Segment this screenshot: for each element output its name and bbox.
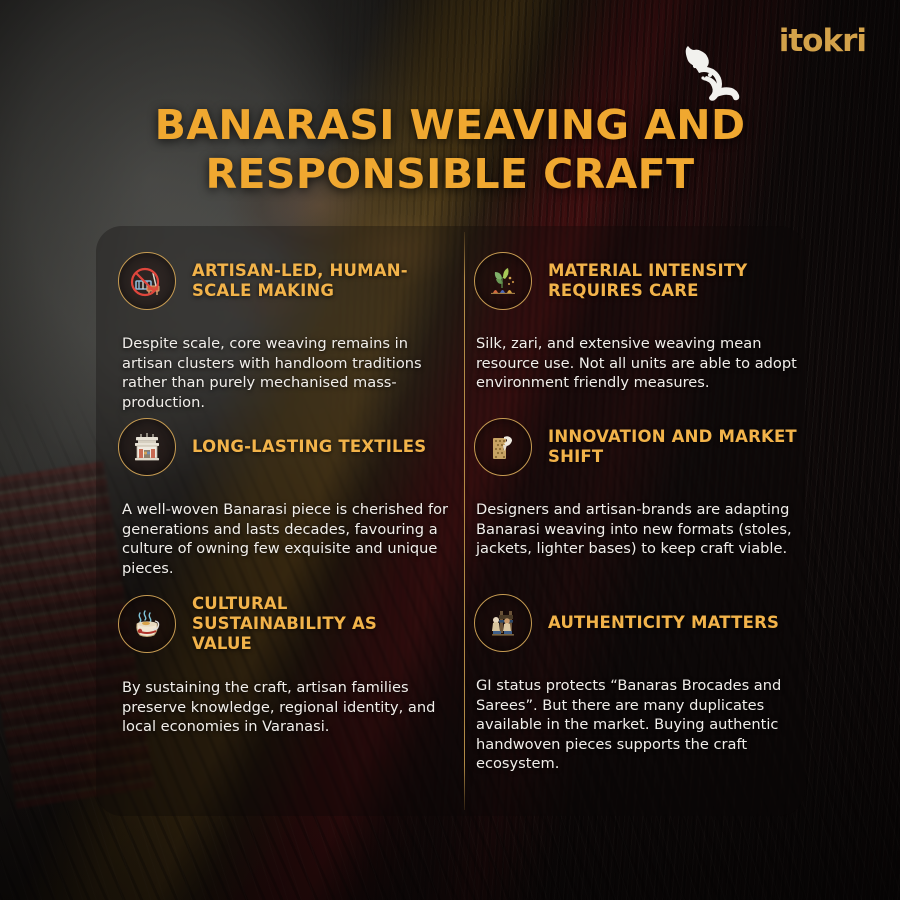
card-material-intensity: MATERIAL INTENSITY REQUIRES CARE Silk, z… xyxy=(474,252,814,407)
card-artisan-led: ARTISAN-LED, HUMAN-SCALE MAKING Despite … xyxy=(118,252,458,427)
cards-grid: ARTISAN-LED, HUMAN-SCALE MAKING Despite … xyxy=(96,226,805,816)
card-title: AUTHENTICITY MATTERS xyxy=(548,613,779,633)
fabric-swatch-hand-icon xyxy=(474,418,532,476)
card-header: AUTHENTICITY MATTERS xyxy=(474,594,814,652)
no-machine-loom-icon xyxy=(118,252,176,310)
card-title: ARTISAN-LED, HUMAN-SCALE MAKING xyxy=(192,261,442,301)
card-cultural-sustainability: CULTURAL SUSTAINABILITY AS VALUE By sust… xyxy=(118,594,458,752)
card-body: Silk, zari, and extensive weaving mean r… xyxy=(476,334,806,393)
card-title: CULTURAL SUSTAINABILITY AS VALUE xyxy=(192,594,442,654)
infographic-poster: itokri BANARASI WEAVING AND RESPONSIBLE … xyxy=(0,0,900,900)
leopard-mascot-icon xyxy=(666,42,742,104)
card-body: By sustaining the craft, artisan familie… xyxy=(122,678,452,737)
page-title-line-2: RESPONSIBLE CRAFT xyxy=(206,150,695,198)
card-authenticity-matters: AUTHENTICITY MATTERS GI status protects … xyxy=(474,594,814,788)
two-artisans-weaving-icon xyxy=(474,594,532,652)
card-header: INNOVATION AND MARKET SHIFT xyxy=(474,418,814,476)
card-body: Despite scale, core weaving remains in a… xyxy=(122,334,452,412)
card-innovation-market-shift: INNOVATION AND MARKET SHIFT Designers an… xyxy=(474,418,814,573)
card-header: CULTURAL SUSTAINABILITY AS VALUE xyxy=(118,594,458,654)
heritage-temple-building-icon xyxy=(118,418,176,476)
steaming-pot-icon xyxy=(118,595,176,653)
card-title: LONG-LASTING TEXTILES xyxy=(192,437,426,457)
brand-logo-text: itokri xyxy=(779,26,866,57)
card-title: INNOVATION AND MARKET SHIFT xyxy=(548,427,798,467)
card-header: LONG-LASTING TEXTILES xyxy=(118,418,458,476)
card-body: GI status protects “Banaras Brocades and… xyxy=(476,676,806,774)
card-long-lasting-textiles: LONG-LASTING TEXTILES A well-woven Banar… xyxy=(118,418,458,593)
card-header: MATERIAL INTENSITY REQUIRES CARE xyxy=(474,252,814,310)
brand-logo[interactable]: itokri xyxy=(779,26,866,57)
card-body: Designers and artisan-brands are adaptin… xyxy=(476,500,806,559)
seedling-dye-pigments-icon xyxy=(474,252,532,310)
card-header: ARTISAN-LED, HUMAN-SCALE MAKING xyxy=(118,252,458,310)
card-title: MATERIAL INTENSITY REQUIRES CARE xyxy=(548,261,798,301)
page-title-line-1: BANARASI WEAVING AND xyxy=(155,101,746,149)
card-body: A well-woven Banarasi piece is cherished… xyxy=(122,500,452,578)
page-title: BANARASI WEAVING AND RESPONSIBLE CRAFT xyxy=(0,101,900,198)
